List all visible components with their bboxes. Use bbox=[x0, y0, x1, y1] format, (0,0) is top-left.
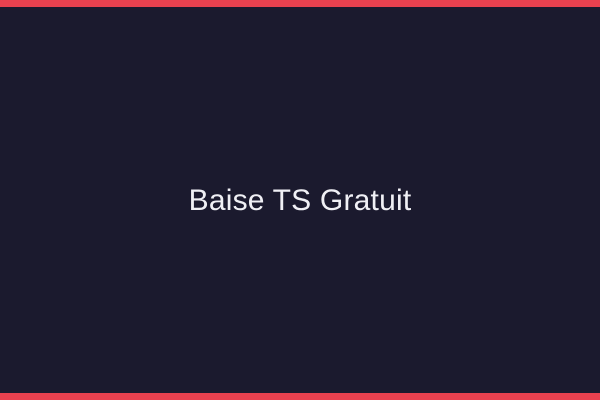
page-title: Baise TS Gratuit bbox=[189, 184, 412, 217]
placeholder-content-area: Baise TS Gratuit bbox=[0, 7, 600, 393]
bottom-accent-bar bbox=[0, 393, 600, 400]
placeholder-card: Baise TS Gratuit bbox=[0, 0, 600, 400]
top-accent-bar bbox=[0, 0, 600, 7]
